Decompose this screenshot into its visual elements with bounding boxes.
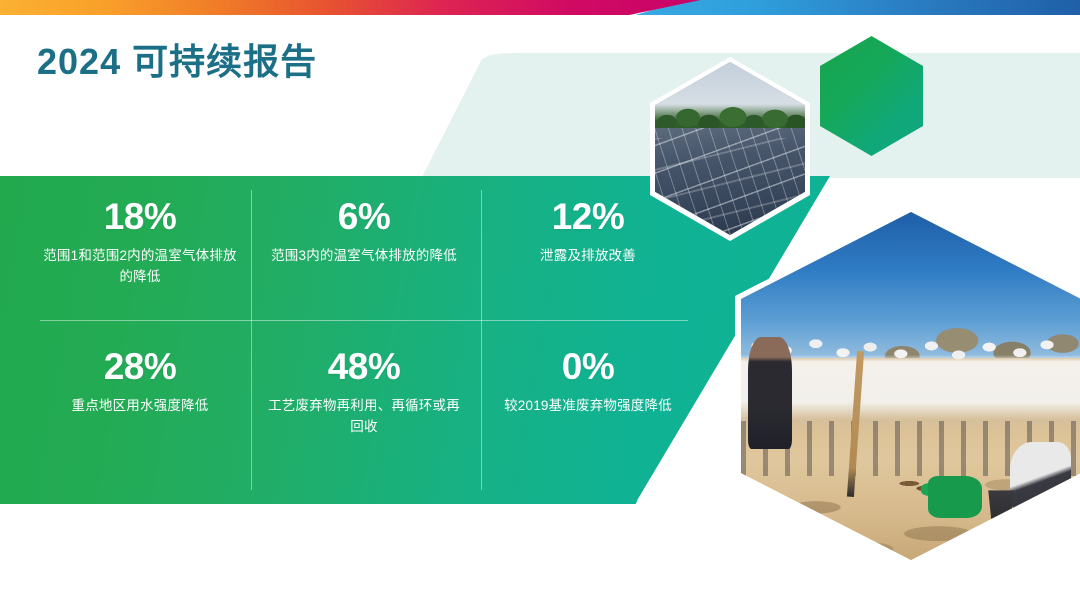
tree-planting-volunteers-photo xyxy=(741,212,1080,560)
stat-cell: 0% 较2019基准废弃物强度降低 xyxy=(476,340,700,490)
watering-can-icon xyxy=(928,476,982,518)
page-title: 2024 可持续报告 xyxy=(37,41,317,82)
stat-label: 重点地区用水强度降低 xyxy=(72,396,209,417)
stat-label: 泄露及排放改善 xyxy=(540,246,636,267)
stat-value: 18% xyxy=(104,198,177,237)
top-gradient-bar xyxy=(0,0,1080,15)
stat-cell: 28% 重点地区用水强度降低 xyxy=(28,340,252,490)
stat-label: 较2019基准废弃物强度降低 xyxy=(504,396,672,417)
sustainability-report-slide: 2024 可持续报告 18% 范围1和范围2内的温室气体排放的降低 6% 范围3… xyxy=(0,0,1080,606)
stat-label: 工艺废弃物再利用、再循环或再回收 xyxy=(266,396,462,438)
stat-label: 范围1和范围2内的温室气体排放的降低 xyxy=(42,246,238,288)
stat-value: 6% xyxy=(338,198,390,237)
foreground-person-left xyxy=(748,337,792,448)
top-bar-warm-segment xyxy=(0,0,715,15)
stat-value: 12% xyxy=(552,198,625,237)
stats-grid: 18% 范围1和范围2内的温室气体排放的降低 6% 范围3内的温室气体排放的降低… xyxy=(28,190,700,490)
stat-label: 范围3内的温室气体排放的降低 xyxy=(271,246,457,267)
stat-value: 48% xyxy=(328,348,401,387)
stat-value: 0% xyxy=(562,348,614,387)
stat-cell: 48% 工艺废弃物再利用、再循环或再回收 xyxy=(252,340,476,490)
stat-cell: 18% 范围1和范围2内的温室气体排放的降低 xyxy=(28,190,252,340)
stat-value: 28% xyxy=(104,348,177,387)
stat-cell: 12% 泄露及排放改善 xyxy=(476,190,700,340)
stat-cell: 6% 范围3内的温室气体排放的降低 xyxy=(252,190,476,340)
